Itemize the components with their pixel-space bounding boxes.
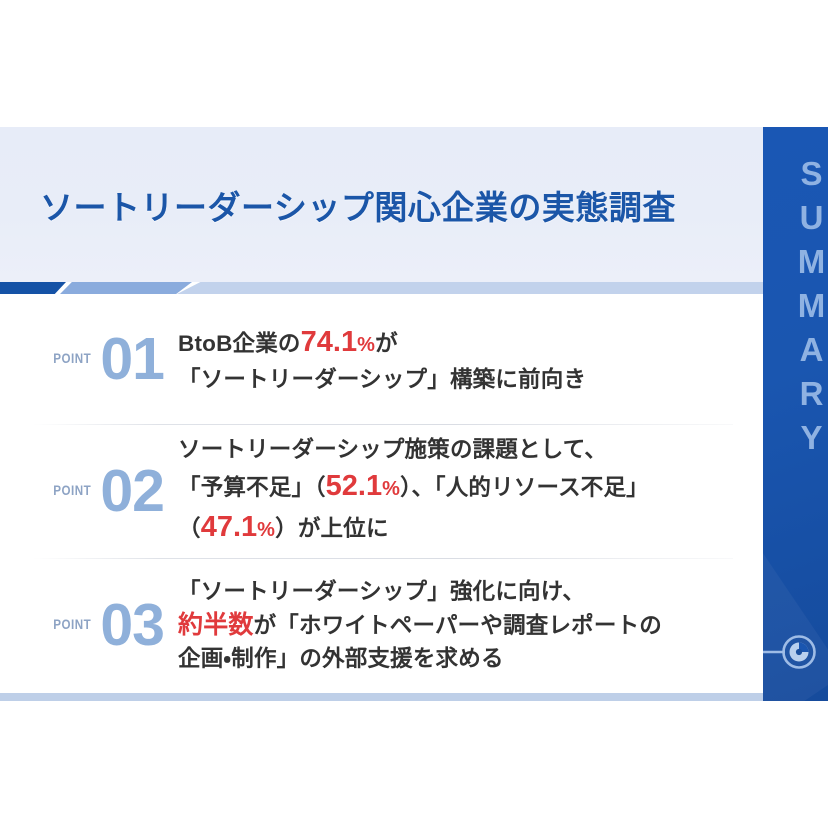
text-run: 「ソートリーダーシップ」強化に向け、	[178, 579, 585, 604]
page-title: ソートリーダーシップ関心企業の実態調査	[40, 181, 676, 229]
point-row: POINT 02 ソートリーダーシップ施策の課題として、「予算不足」（52.1%…	[0, 424, 763, 558]
highlighted-figure: 52.1	[326, 470, 382, 502]
point-text-line: 「ソートリーダーシップ」構築に前向き	[178, 364, 739, 396]
top-whitespace	[0, 0, 828, 127]
point-text-line: 企画・制作」の外部支援を求める	[178, 643, 739, 675]
point-row: POINT 01 BtoB企業の74.1%が「ソートリーダーシップ」構築に前向き	[0, 294, 763, 424]
point-badge: POINT 01	[0, 330, 178, 389]
text-run: ソートリーダーシップ施策の課題として、	[178, 437, 607, 462]
point-label: POINT	[53, 351, 91, 366]
point-text-line: （47.1%）が上位に	[178, 507, 739, 548]
highlighted-figure: %	[257, 519, 275, 541]
text-run: （	[178, 516, 201, 541]
text-run: ）、「人的リソース不足」	[400, 475, 649, 500]
summary-rail-label: SUMMARY	[763, 155, 828, 463]
text-run: ）が上位に	[275, 516, 389, 541]
highlighted-figure: 約半数	[178, 611, 254, 639]
highlighted-figure: %	[357, 334, 375, 356]
point-row: POINT 03 「ソートリーダーシップ」強化に向け、約半数が「ホワイトペーパー…	[0, 558, 763, 693]
pie-chart-circle-icon	[763, 629, 828, 675]
accent-segment-mid	[60, 282, 192, 294]
text-run: が「ホワイトペーパーや調査レポートの	[254, 613, 662, 638]
bottom-whitespace	[0, 701, 828, 828]
text-run: が	[375, 331, 398, 356]
point-badge: POINT 02	[0, 462, 178, 521]
point-text: BtoB企業の74.1%が「ソートリーダーシップ」構築に前向き	[178, 322, 763, 395]
text-run: 「ソートリーダーシップ」構築に前向き	[178, 367, 586, 392]
highlighted-figure: 74.1	[301, 326, 357, 358]
accent-strip	[0, 282, 763, 294]
point-label: POINT	[53, 617, 91, 632]
summary-slide: ソートリーダーシップ関心企業の実態調査 POINT 01 BtoB企業の74.1…	[0, 0, 828, 828]
point-text-line: 「ソートリーダーシップ」強化に向け、	[178, 576, 739, 608]
point-text: ソートリーダーシップ施策の課題として、「予算不足」（52.1%）、「人的リソース…	[178, 434, 763, 548]
point-text-line: BtoB企業の74.1%が	[178, 322, 739, 363]
point-text-line: 約半数が「ホワイトペーパーや調査レポートの	[178, 608, 739, 644]
point-text-line: ソートリーダーシップ施策の課題として、	[178, 434, 739, 466]
point-number: 02	[100, 462, 164, 521]
point-text-line: 「予算不足」（52.1%）、「人的リソース不足」	[178, 466, 739, 507]
summary-rail: SUMMARY	[763, 127, 828, 701]
point-label: POINT	[53, 483, 91, 498]
accent-segment-light	[177, 282, 763, 294]
highlighted-figure: %	[382, 478, 400, 500]
text-run: 「予算不足」（	[178, 475, 326, 500]
text-run: BtoB企業の	[178, 331, 301, 356]
point-badge: POINT 03	[0, 596, 178, 655]
point-number: 01	[100, 330, 164, 389]
highlighted-figure: 47.1	[201, 511, 257, 543]
points-card: POINT 01 BtoB企業の74.1%が「ソートリーダーシップ」構築に前向き…	[0, 294, 763, 693]
accent-segment-dark	[0, 282, 66, 294]
point-text: 「ソートリーダーシップ」強化に向け、約半数が「ホワイトペーパーや調査レポートの企…	[178, 576, 763, 675]
footer-accent-bar	[0, 693, 763, 701]
point-number: 03	[100, 596, 164, 655]
text-run: 企画・制作」の外部支援を求める	[178, 646, 504, 671]
header-band: ソートリーダーシップ関心企業の実態調査	[0, 127, 763, 282]
